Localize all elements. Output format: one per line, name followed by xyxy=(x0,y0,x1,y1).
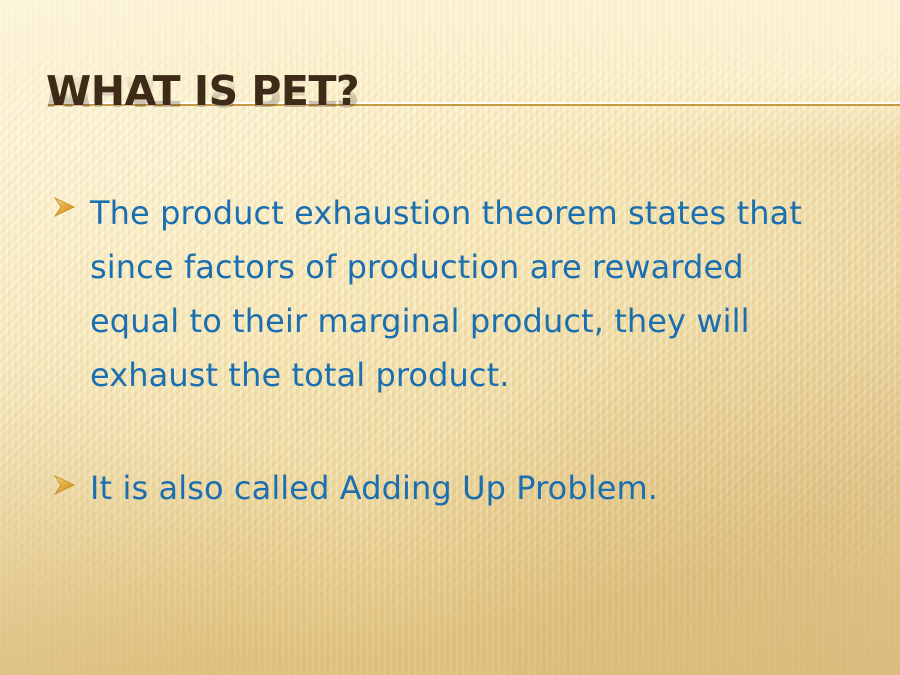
bullet-text-2: It is also called Adding Up Problem. xyxy=(90,464,835,512)
slide-body: The product exhaustion theorem states th… xyxy=(52,186,852,512)
bullet-item-1: The product exhaustion theorem states th… xyxy=(52,186,852,402)
bullet-spacer xyxy=(52,402,852,464)
arrow-chevron-bullet-icon xyxy=(52,464,90,497)
bullet-text-1: The product exhaustion theorem states th… xyxy=(90,186,835,402)
slide-title: What is PET? xyxy=(46,68,359,114)
bullet-item-2: It is also called Adding Up Problem. xyxy=(52,464,852,512)
arrow-chevron-bullet-icon xyxy=(52,186,90,219)
slide-title-area: What is PET? What is PET? xyxy=(46,68,866,154)
presentation-slide: What is PET? What is PET? The product ex… xyxy=(0,0,900,675)
